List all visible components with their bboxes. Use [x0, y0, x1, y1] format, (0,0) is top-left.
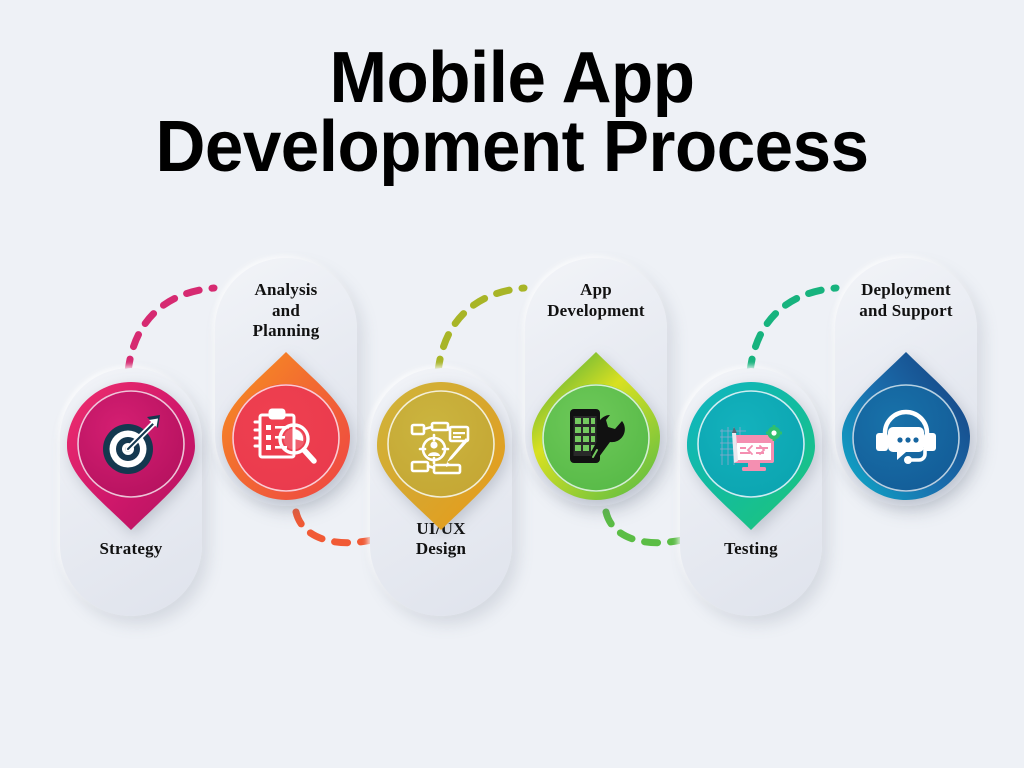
wireframe-brush-icon — [402, 407, 480, 485]
step-label-app-development: App Development — [525, 280, 667, 321]
label-line: Testing — [724, 539, 778, 558]
step-card-ui-ux-design[interactable]: UI/UX Design — [370, 368, 512, 616]
step-card-strategy[interactable]: Strategy — [60, 368, 202, 616]
label-line: Analysis — [254, 280, 317, 299]
label-line: and Support — [859, 301, 952, 320]
label-line: Development — [547, 301, 645, 320]
step-card-testing[interactable]: Testing — [680, 368, 822, 616]
step-card-app-development[interactable]: App Development — [525, 258, 667, 506]
step-label-analysis-and-planning: Analysis and Planning — [215, 280, 357, 342]
connector-strategy-to-analysis — [128, 288, 214, 372]
smartphone-wrench-icon — [557, 397, 635, 475]
label-line: and — [272, 301, 300, 320]
title-line-2: Development Process — [20, 113, 1003, 182]
pin-strategy — [61, 380, 201, 532]
monitor-gear-testing-icon — [712, 407, 790, 485]
label-line: App — [580, 280, 612, 299]
pin-ui-ux-design — [371, 380, 511, 532]
connector-uiux-to-appdev — [438, 288, 524, 372]
label-line: Planning — [253, 321, 320, 340]
pin-deployment-and-support — [836, 350, 976, 502]
pin-analysis-and-planning — [216, 350, 356, 502]
step-label-strategy: Strategy — [60, 539, 202, 560]
step-card-deployment-and-support[interactable]: Deployment and Support — [835, 258, 977, 506]
step-label-deployment-and-support: Deployment and Support — [835, 280, 977, 321]
label-line: Design — [416, 539, 466, 558]
connector-analysis-to-uiux — [296, 512, 372, 543]
pin-testing — [681, 380, 821, 532]
page-title: Mobile App Development Process — [0, 44, 1024, 182]
connector-testing-to-deployment — [750, 288, 836, 372]
title-line-1: Mobile App — [20, 44, 1003, 113]
target-dartboard-icon — [92, 407, 170, 485]
headset-support-icon — [867, 397, 945, 475]
clipboard-magnifier-icon — [247, 397, 325, 475]
step-card-analysis-and-planning[interactable]: Analysis and Planning — [215, 258, 357, 506]
connector-appdev-to-testing — [606, 512, 682, 543]
infographic-canvas: Mobile App Development Process — [0, 0, 1024, 768]
label-line: Deployment — [861, 280, 951, 299]
label-line: Strategy — [100, 539, 163, 558]
step-label-testing: Testing — [680, 539, 822, 560]
pin-app-development — [526, 350, 666, 502]
